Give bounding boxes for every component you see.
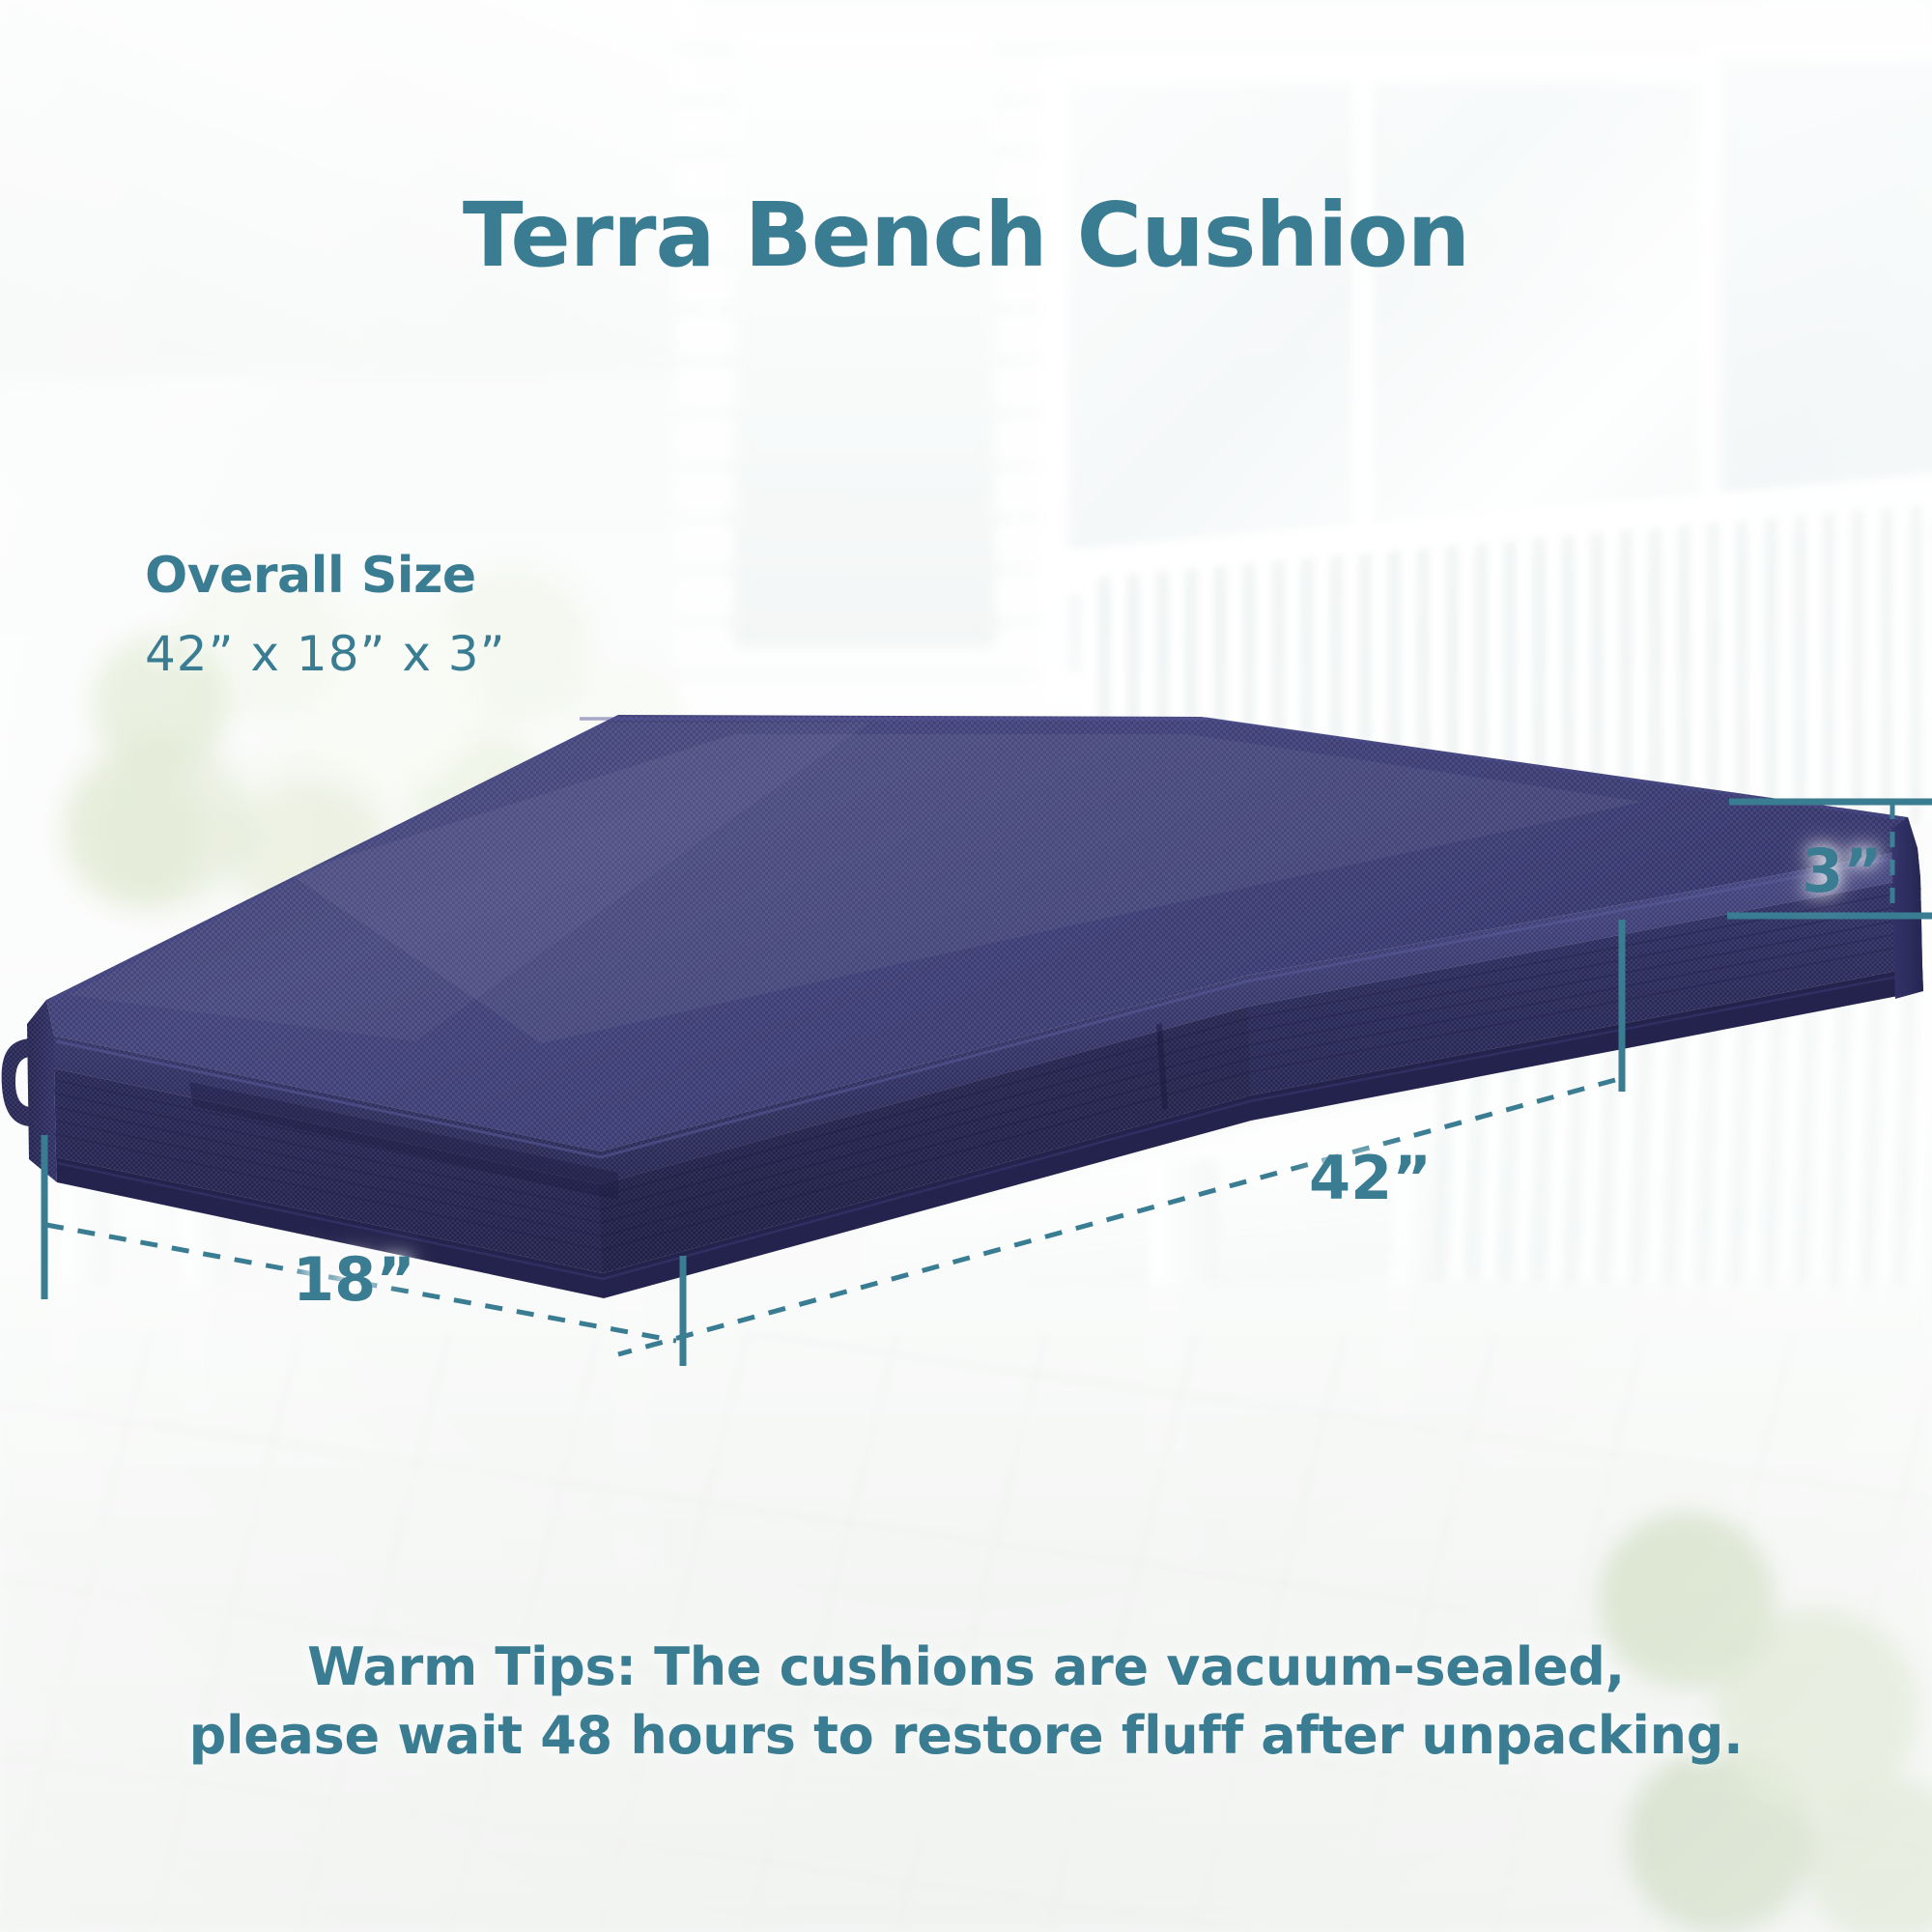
dimension-label-height: 3”: [1802, 836, 1883, 906]
overall-size-block: Overall Size 42” x 18” x 3”: [145, 547, 506, 682]
overall-size-value: 42” x 18” x 3”: [145, 626, 506, 682]
page-title: Terra Bench Cushion: [0, 184, 1932, 287]
warm-tips-line-2: please wait 48 hours to restore fluff af…: [0, 1701, 1932, 1770]
dash-length: [618, 1080, 1615, 1354]
dimension-label-length: 42”: [1309, 1143, 1432, 1213]
dimension-label-depth: 18”: [293, 1244, 415, 1315]
warm-tips: Warm Tips: The cushions are vacuum-seale…: [0, 1633, 1932, 1771]
warm-tips-line-1: Warm Tips: The cushions are vacuum-seale…: [307, 1636, 1625, 1697]
infographic-canvas: Terra Bench Cushion Overall Size 42” x 1…: [0, 0, 1932, 1932]
overall-size-label: Overall Size: [145, 547, 506, 605]
